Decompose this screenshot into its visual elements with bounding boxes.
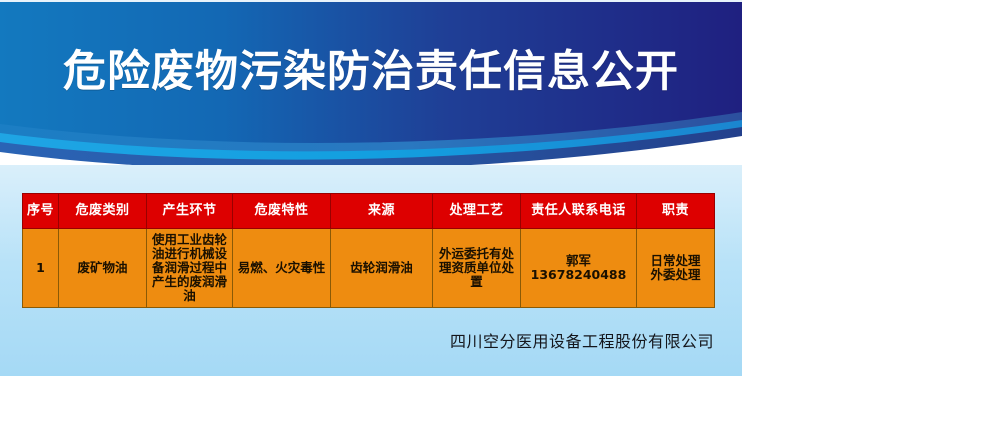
column-header-responsible-phone: 责任人联系电话 bbox=[521, 194, 637, 229]
information-disclosure-poster: 危险废物污染防治责任信息公开 序号 危废类别 产生环节 危废特性 来源 处理工艺… bbox=[0, 0, 742, 376]
cell-index: 1 bbox=[23, 229, 59, 308]
company-name: 四川空分医用设备工程股份有限公司 bbox=[0, 328, 742, 352]
duty-line-1: 日常处理 bbox=[638, 254, 713, 268]
column-header-duty: 职责 bbox=[637, 194, 715, 229]
cell-responsible-contact: 郭军 13678240488 bbox=[521, 229, 637, 308]
responsible-person-phone: 13678240488 bbox=[522, 268, 635, 282]
cell-hazard-property: 易燃、火灾毒性 bbox=[233, 229, 331, 308]
page-title: 危险废物污染防治责任信息公开 bbox=[0, 46, 742, 98]
cell-source: 齿轮润滑油 bbox=[331, 229, 433, 308]
column-header-hazard-property: 危废特性 bbox=[233, 194, 331, 229]
responsible-person-name: 郭军 bbox=[522, 254, 635, 268]
column-header-treatment-process: 处理工艺 bbox=[433, 194, 521, 229]
column-header-source: 来源 bbox=[331, 194, 433, 229]
cell-treatment-process: 外运委托有处理资质单位处置 bbox=[433, 229, 521, 308]
cell-generation-stage: 使用工业齿轮油进行机械设备润滑过程中产生的废润滑油 bbox=[147, 229, 233, 308]
poster-banner: 危险废物污染防治责任信息公开 bbox=[0, 0, 742, 165]
table-header-row: 序号 危废类别 产生环节 危废特性 来源 处理工艺 责任人联系电话 职责 bbox=[23, 194, 715, 229]
cell-duty: 日常处理 外委处理 bbox=[637, 229, 715, 308]
cell-category: 废矿物油 bbox=[59, 229, 147, 308]
hazardous-waste-table: 序号 危废类别 产生环节 危废特性 来源 处理工艺 责任人联系电话 职责 1 废… bbox=[22, 193, 715, 308]
duty-line-2: 外委处理 bbox=[638, 268, 713, 282]
column-header-index: 序号 bbox=[23, 194, 59, 229]
column-header-generation-stage: 产生环节 bbox=[147, 194, 233, 229]
column-header-category: 危废类别 bbox=[59, 194, 147, 229]
table-row: 1 废矿物油 使用工业齿轮油进行机械设备润滑过程中产生的废润滑油 易燃、火灾毒性… bbox=[23, 229, 715, 308]
